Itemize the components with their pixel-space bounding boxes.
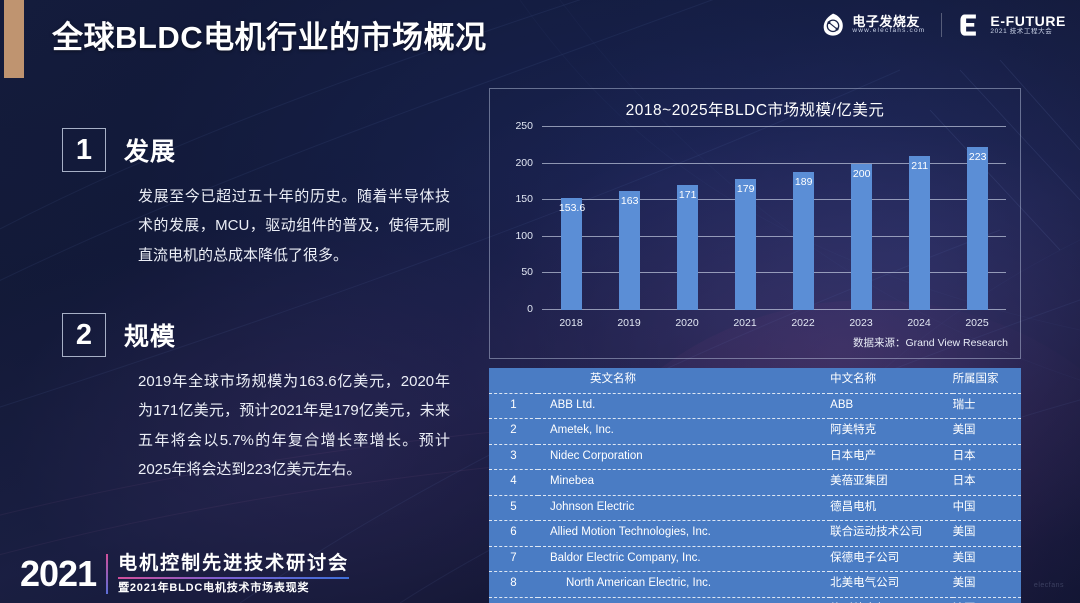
cell-chinese-name: 联合运动技术公司	[830, 521, 952, 547]
footer-year: 2021	[20, 556, 96, 592]
th-index	[489, 368, 538, 393]
table-row[interactable]: 1ABB Ltd.ABB瑞士	[489, 393, 1021, 419]
chart-y-tick-label: 50	[521, 266, 533, 278]
table-header-row: 英文名称 中文名称 所属国家	[489, 368, 1021, 393]
chart-x-tick-label: 2018	[559, 317, 582, 329]
chart-y-tick-label: 250	[515, 120, 533, 132]
elecfans-brand-name: 电子发烧友	[852, 15, 925, 29]
chart-y-tick-label: 0	[527, 303, 533, 315]
cell-chinese-name: 美蓓亚集团	[830, 470, 952, 496]
efuture-logo-icon	[958, 12, 984, 38]
chart-bar[interactable]: 2002023	[851, 164, 872, 310]
cell-english-name: Ametek, Inc.	[538, 419, 830, 445]
chart-x-tick-label: 2022	[791, 317, 814, 329]
chart-bars: 153.620181632019171202017920211892022200…	[542, 127, 1006, 310]
footer-text-block: 电机控制先进技术研讨会 暨2021年BLDC电机技术市场表现奖	[118, 553, 349, 595]
table-row[interactable]: 2Ametek, Inc.阿美特克美国	[489, 419, 1021, 445]
cell-chinese-name: 日本电产	[830, 444, 952, 470]
section-header: 2 规模	[62, 313, 462, 357]
section-title: 规模	[124, 317, 176, 353]
chart-bar-value-label: 211	[911, 160, 928, 172]
brand-divider	[941, 13, 942, 37]
market-size-bar-chart: 2018~2025年BLDC市场规模/亿美元 050100150200250 1…	[489, 88, 1021, 359]
page-title: 全球BLDC电机行业的市场概况	[52, 12, 487, 57]
section-number-badge: 2	[62, 313, 106, 357]
cell-country: 瑞士	[953, 393, 1021, 419]
companies-table-element: 英文名称 中文名称 所属国家 1ABB Ltd.ABB瑞士2Ametek, In…	[489, 368, 1021, 603]
chart-bar[interactable]: 153.62018	[561, 198, 582, 310]
chart-bar[interactable]: 2232025	[967, 147, 988, 310]
chart-x-tick-label: 2021	[733, 317, 756, 329]
table-head: 英文名称 中文名称 所属国家	[489, 368, 1021, 393]
cell-index: 4	[489, 470, 538, 496]
table-body: 1ABB Ltd.ABB瑞士2Ametek, Inc.阿美特克美国3Nidec …	[489, 393, 1021, 603]
efuture-brand-name: E-FUTURE	[990, 14, 1066, 29]
cell-chinese-name: 保德电子公司	[830, 546, 952, 572]
cell-index: 7	[489, 546, 538, 572]
content-section-development: 1 发展 发展至今已超过五十年的历史。随着半导体技术的发展，MCU，驱动组件的普…	[62, 128, 462, 270]
chart-y-tick-label: 200	[515, 157, 533, 169]
cell-index: 3	[489, 444, 538, 470]
cell-country: 美国	[953, 419, 1021, 445]
section-number-badge: 1	[62, 128, 106, 172]
chart-x-tick-label: 2019	[617, 317, 640, 329]
chart-bar-value-label: 200	[853, 168, 871, 180]
section-body-text: 发展至今已超过五十年的历史。随着半导体技术的发展，MCU，驱动组件的普及，使得无…	[138, 182, 450, 270]
cell-index: 1	[489, 393, 538, 419]
chart-bar[interactable]: 1892022	[793, 172, 814, 310]
footer-accent-bar	[106, 554, 108, 594]
chart-bar-slot: 1892022	[774, 127, 832, 310]
cell-english-name: Baldor Electric Company, Inc.	[538, 546, 830, 572]
chart-bar[interactable]: 2112024	[909, 156, 930, 310]
efuture-brand: E-FUTURE 2021 技术工程大会	[958, 12, 1066, 38]
cell-chinese-name: ABB	[830, 393, 952, 419]
footer-gradient-rule	[118, 577, 349, 579]
table-row[interactable]: 8North American Electric, Inc.北美电气公司美国	[489, 572, 1021, 598]
th-country: 所属国家	[953, 368, 1021, 393]
chart-plot-area: 050100150200250 153.62018163201917120201…	[542, 127, 1006, 310]
chart-bar-slot: 153.62018	[542, 127, 600, 310]
chart-y-tick-label: 150	[515, 193, 533, 205]
footer-event-name: 电机控制先进技术研讨会	[118, 553, 349, 575]
content-section-scale: 2 规模 2019年全球市场规模为163.6亿美元，2020年为171亿美元，预…	[62, 313, 462, 484]
table-row[interactable]: 3Nidec Corporation日本电产日本	[489, 444, 1021, 470]
table-row[interactable]: 5Johnson Electric德昌电机中国	[489, 495, 1021, 521]
cell-country: 美国	[953, 546, 1021, 572]
chart-y-tick-label: 100	[515, 230, 533, 242]
section-header: 1 发展	[62, 128, 462, 172]
cell-index: 5	[489, 495, 538, 521]
elecfans-brand: 电子发烧友 www.elecfans.com	[820, 12, 925, 38]
cell-chinese-name: 阿美特克	[830, 419, 952, 445]
cell-chinese-name: 德昌电机	[830, 495, 952, 521]
chart-bar[interactable]: 1632019	[619, 191, 640, 310]
efuture-brand-sub: 2021 技术工程大会	[990, 29, 1066, 36]
cell-country: 美国	[953, 572, 1021, 598]
section-body-text: 2019年全球市场规模为163.6亿美元，2020年为171亿美元，预计2021…	[138, 367, 450, 484]
cell-english-name: Johnson Electric	[538, 495, 830, 521]
chart-x-tick-label: 2024	[907, 317, 930, 329]
cell-chinese-name: 施耐德电气	[830, 597, 952, 603]
cell-english-name: Allied Motion Technologies, Inc.	[538, 521, 830, 547]
chart-x-tick-label: 2023	[849, 317, 872, 329]
cell-index: 2	[489, 419, 538, 445]
chart-bar-value-label: 189	[795, 176, 813, 188]
cell-index: 9	[489, 597, 538, 603]
cell-english-name: Minebea	[538, 470, 830, 496]
chart-bar-slot: 2232025	[948, 127, 1006, 310]
chart-title: 2018~2025年BLDC市场规模/亿美元	[490, 98, 1020, 120]
chart-bar-value-label: 223	[969, 151, 987, 163]
cell-chinese-name: 北美电气公司	[830, 572, 952, 598]
chart-x-tick-label: 2020	[675, 317, 698, 329]
chart-bar-value-label: 163	[621, 195, 639, 207]
elecfans-logo-icon	[820, 12, 846, 38]
cell-country: 日本	[953, 470, 1021, 496]
table-row[interactable]: 4Minebea美蓓亚集团日本	[489, 470, 1021, 496]
table-row[interactable]: 9Schneider Electric施耐德电气法国	[489, 597, 1021, 603]
chart-bar-slot: 1712020	[658, 127, 716, 310]
cell-index: 6	[489, 521, 538, 547]
chart-source-note: 数据来源：Grand View Research	[853, 335, 1008, 350]
chart-bar[interactable]: 1712020	[677, 185, 698, 310]
cell-country: 美国	[953, 521, 1021, 547]
footer-event-subtitle: 暨2021年BLDC电机技术市场表现奖	[118, 582, 349, 595]
th-english-name: 英文名称	[538, 368, 830, 393]
chart-bar-slot: 2112024	[890, 127, 948, 310]
chart-bar-value-label: 171	[679, 189, 697, 201]
cell-english-name: ABB Ltd.	[538, 393, 830, 419]
section-title: 发展	[124, 132, 176, 168]
chart-bar[interactable]: 1792021	[735, 179, 756, 310]
cell-country: 中国	[953, 495, 1021, 521]
faint-watermark: elecfans	[1034, 582, 1064, 589]
top-companies-table: 英文名称 中文名称 所属国家 1ABB Ltd.ABB瑞士2Ametek, In…	[489, 368, 1021, 603]
event-footer-logo: 2021 电机控制先进技术研讨会 暨2021年BLDC电机技术市场表现奖	[20, 553, 349, 595]
cell-english-name: Schneider Electric	[538, 597, 830, 603]
th-chinese-name: 中文名称	[830, 368, 952, 393]
chart-x-tick-label: 2025	[965, 317, 988, 329]
cell-english-name: North American Electric, Inc.	[538, 572, 830, 598]
chart-bar-slot: 1792021	[716, 127, 774, 310]
chart-bar-slot: 1632019	[600, 127, 658, 310]
chart-bar-slot: 2002023	[832, 127, 890, 310]
chart-bar-value-label: 179	[737, 183, 755, 195]
elecfans-brand-url: www.elecfans.com	[852, 28, 925, 35]
cell-index: 8	[489, 572, 538, 598]
chart-bar-value-label: 153.6	[559, 202, 585, 214]
cell-english-name: Nidec Corporation	[538, 444, 830, 470]
cell-country: 日本	[953, 444, 1021, 470]
brand-logos: 电子发烧友 www.elecfans.com E-FUTURE 2021 技术工…	[820, 12, 1066, 38]
title-accent-block	[4, 0, 24, 78]
cell-country: 法国	[953, 597, 1021, 603]
table-row[interactable]: 7Baldor Electric Company, Inc.保德电子公司美国	[489, 546, 1021, 572]
table-row[interactable]: 6Allied Motion Technologies, Inc.联合运动技术公…	[489, 521, 1021, 547]
slide-canvas: 全球BLDC电机行业的市场概况 电子发烧友 www.elecfans.com E…	[0, 0, 1080, 603]
